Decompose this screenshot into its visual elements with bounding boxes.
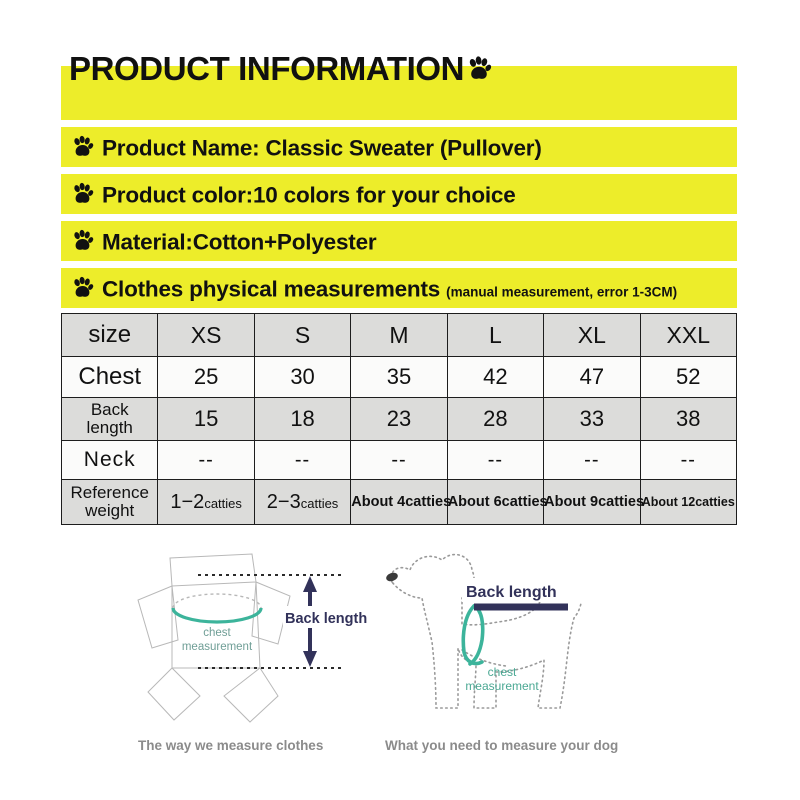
weight-number: 2−3 <box>267 491 301 513</box>
weight-value: About 6catties <box>448 493 548 511</box>
info-row-label: Product color:10 colors for your choice <box>102 183 516 209</box>
info-row-label: Clothes physical measurements <box>102 277 440 303</box>
table-cell-chest-xl: 47 <box>544 357 640 398</box>
weight-unit: catties <box>695 495 735 509</box>
page-title: PRODUCT INFORMATION <box>69 50 492 88</box>
table-cell-backlength-l: 28 <box>447 398 543 441</box>
chest-ellipse-back <box>173 594 261 608</box>
paw-icon <box>71 277 94 305</box>
back-length-label: Back length <box>466 584 557 601</box>
table-cell-size-s: S <box>254 314 350 357</box>
diagram-clothes: chest measurement Back length <box>128 540 368 740</box>
weight-number: About 6 <box>448 494 502 510</box>
product-info-banner-area: PRODUCT INFORMATION <box>61 66 737 315</box>
info-row-material: Material:Cotton+Polyester <box>61 221 737 261</box>
table-cell-neck-xs: -- <box>158 441 254 480</box>
weight-value: About 9catties <box>544 493 644 511</box>
info-row-product-color: Product color:10 colors for your choice <box>61 174 737 214</box>
back-length-label-line2: length <box>62 419 157 437</box>
caption-clothes: The way we measure clothes <box>138 738 323 753</box>
clothes-measurement-illustration: chest measurement Back length <box>128 540 368 735</box>
table-cell-row-label: Reference weight <box>62 480 158 525</box>
weight-unit: catties <box>301 496 339 511</box>
reference-weight-label-line1: Reference <box>62 484 157 502</box>
weight-unit: catties <box>204 496 242 511</box>
table-cell-neck-xxl: -- <box>640 441 736 480</box>
weight-number: About 4 <box>351 494 405 510</box>
weight-unit: catties <box>598 494 644 510</box>
info-row-content: Product Name: Classic Sweater (Pullover) <box>71 133 542 162</box>
table-cell-backlength-s: 18 <box>254 398 350 441</box>
back-length-label-line1: Back <box>62 401 157 419</box>
info-row-content: Clothes physical measurements (manual me… <box>71 274 677 303</box>
table-cell-size-xs: XS <box>158 314 254 357</box>
table-row-back-length: Back length 15 18 23 28 33 38 <box>62 398 737 441</box>
table-cell-chest-xxl: 52 <box>640 357 736 398</box>
chest-ellipse-front <box>173 608 261 622</box>
paw-icon <box>71 136 94 164</box>
collar-shape <box>170 554 256 586</box>
chest-measurement-label-line1: chest <box>488 665 517 679</box>
chest-measurement-ellipse <box>173 594 261 622</box>
table-cell-row-label: Back length <box>62 398 158 441</box>
dog-measurement-illustration: Back length chest measurement <box>378 540 638 735</box>
table-cell-row-label: Neck <box>62 441 158 480</box>
info-row-content: Material:Cotton+Polyester <box>71 227 376 256</box>
reference-weight-label-line2: weight <box>62 502 157 520</box>
diagram-dog: Back length chest measurement <box>378 540 638 740</box>
table-cell-size-xl: XL <box>544 314 640 357</box>
info-row-product-name: Product Name: Classic Sweater (Pullover) <box>61 127 737 167</box>
paw-icon <box>71 230 94 258</box>
table-cell-neck-s: -- <box>254 441 350 480</box>
table-cell-weight-xxl: About 12catties <box>640 480 736 525</box>
body-shape <box>172 582 260 668</box>
table-cell-size-l: L <box>447 314 543 357</box>
chest-measurement-label-line2: measurement <box>182 641 253 653</box>
weight-number: About 12 <box>642 495 695 509</box>
info-row-label: Product Name: Classic Sweater (Pullover) <box>102 136 542 162</box>
table-row-reference-weight: Reference weight 1−2catties 2−3catties A… <box>62 480 737 525</box>
left-flap <box>148 668 200 720</box>
right-flap <box>224 668 278 722</box>
chest-measurement-loop <box>463 606 482 664</box>
dog-nose <box>385 571 399 583</box>
weight-number: About 9 <box>544 494 598 510</box>
table-cell-weight-m: About 4catties <box>351 480 447 525</box>
info-row-measurements: Clothes physical measurements (manual me… <box>61 268 737 308</box>
table-cell-backlength-xs: 15 <box>158 398 254 441</box>
table-cell-weight-xl: About 9catties <box>544 480 640 525</box>
weight-number: 1−2 <box>170 491 204 513</box>
back-length-label: Back length <box>285 611 367 627</box>
weight-value: About 12catties <box>642 493 735 511</box>
table-cell-chest-m: 35 <box>351 357 447 398</box>
table-cell-chest-xs: 25 <box>158 357 254 398</box>
weight-unit: catties <box>502 494 548 510</box>
table-cell-backlength-m: 23 <box>351 398 447 441</box>
info-row-note: (manual measurement, error 1-3CM) <box>446 285 677 300</box>
table-cell-weight-l: About 6catties <box>447 480 543 525</box>
table-cell-size-label: size <box>62 314 158 357</box>
table-cell-weight-xs: 1−2catties <box>158 480 254 525</box>
table-cell-size-xxl: XXL <box>640 314 736 357</box>
measurement-diagrams: chest measurement Back length <box>0 540 800 780</box>
weight-value: 2−3catties <box>267 491 339 514</box>
table-cell-neck-m: -- <box>351 441 447 480</box>
table-cell-neck-l: -- <box>447 441 543 480</box>
caption-dog: What you need to measure your dog <box>385 738 618 753</box>
paw-icon <box>71 183 94 211</box>
page-title-text: PRODUCT INFORMATION <box>69 50 464 88</box>
info-row-content: Product color:10 colors for your choice <box>71 180 516 209</box>
table-row-chest: Chest 25 30 35 42 47 52 <box>62 357 737 398</box>
table-cell-weight-s: 2−3catties <box>254 480 350 525</box>
size-chart-table: size XS S M L XL XXL Chest 25 30 35 42 4… <box>61 313 737 525</box>
weight-value: 1−2catties <box>170 491 242 514</box>
page-title-band: PRODUCT INFORMATION <box>61 66 737 120</box>
table-row-header: size XS S M L XL XXL <box>62 314 737 357</box>
info-row-label: Material:Cotton+Polyester <box>102 230 376 256</box>
table-cell-backlength-xxl: 38 <box>640 398 736 441</box>
table-cell-size-m: M <box>351 314 447 357</box>
table-cell-neck-xl: -- <box>544 441 640 480</box>
chest-measurement-label-line1: chest <box>203 627 231 639</box>
table-row-neck: Neck -- -- -- -- -- -- <box>62 441 737 480</box>
chest-measurement-label-line2: measurement <box>465 679 539 693</box>
table-cell-row-label: Chest <box>62 357 158 398</box>
table-cell-chest-s: 30 <box>254 357 350 398</box>
table-cell-backlength-xl: 33 <box>544 398 640 441</box>
weight-unit: catties <box>405 494 451 510</box>
table-cell-chest-l: 42 <box>447 357 543 398</box>
paw-icon <box>466 52 492 90</box>
weight-value: About 4catties <box>351 493 451 511</box>
